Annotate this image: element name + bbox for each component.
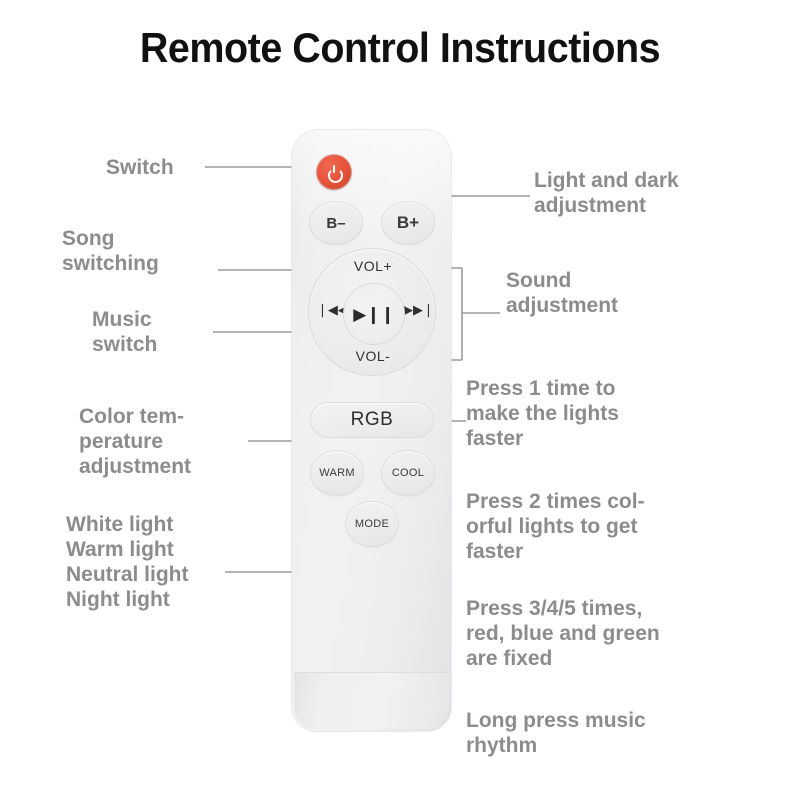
power-button[interactable]	[317, 155, 351, 189]
brightness-up-button[interactable]: B+	[381, 201, 435, 245]
cool-label: COOL	[392, 467, 424, 479]
instruction-diagram: Remote Control Instructions	[0, 0, 800, 800]
annotation-press-2-times: Press 2 times col- orful lights to get f…	[466, 489, 716, 564]
brightness-down-label: B–	[326, 215, 345, 232]
annotation-switch: Switch	[106, 155, 216, 180]
previous-track-button[interactable]: ❘◀◀	[317, 302, 343, 318]
rgb-label: RGB	[351, 409, 394, 431]
warm-label: WARM	[319, 467, 355, 479]
next-track-button[interactable]: ▶▶❘	[403, 302, 429, 318]
brightness-down-button[interactable]: B–	[309, 201, 363, 245]
play-pause-button[interactable]: ▶❙❙	[343, 283, 405, 345]
battery-cover	[294, 673, 449, 729]
page-title: Remote Control Instructions	[24, 24, 776, 72]
annotation-long-press: Long press music rhythm	[466, 708, 716, 758]
annotation-press-345-times: Press 3/4/5 times, red, blue and green a…	[466, 596, 726, 671]
power-icon	[327, 165, 342, 180]
annotation-sound: Sound adjustment	[506, 268, 706, 318]
annotation-song-switching: Song switching	[62, 226, 222, 276]
navigation-ring[interactable]: VOL+ VOL- ❘◀◀ ▶▶❘ ▶❙❙	[308, 248, 436, 376]
warm-button[interactable]: WARM	[310, 450, 364, 496]
remote-control-body: B– B+ VOL+ VOL- ❘◀◀ ▶▶❘ ▶❙❙ RGB WARM COO…	[292, 130, 451, 731]
volume-down-button[interactable]: VOL-	[309, 348, 437, 364]
annotation-light-modes: White light Warm light Neutral light Nig…	[66, 512, 266, 612]
brightness-up-label: B+	[397, 213, 419, 233]
volume-up-button[interactable]: VOL+	[309, 258, 437, 274]
annotation-light-dark: Light and dark adjustment	[534, 168, 754, 218]
annotation-press-1-time: Press 1 time to make the lights faster	[466, 376, 696, 451]
play-pause-icon: ▶❙❙	[353, 306, 395, 323]
mode-label: MODE	[355, 518, 389, 530]
annotation-color-temperature: Color tem- perature adjustment	[79, 404, 259, 479]
rgb-button[interactable]: RGB	[310, 402, 434, 438]
annotation-music-switch: Music switch	[92, 307, 222, 357]
cool-button[interactable]: COOL	[381, 450, 435, 496]
mode-button[interactable]: MODE	[345, 501, 399, 547]
